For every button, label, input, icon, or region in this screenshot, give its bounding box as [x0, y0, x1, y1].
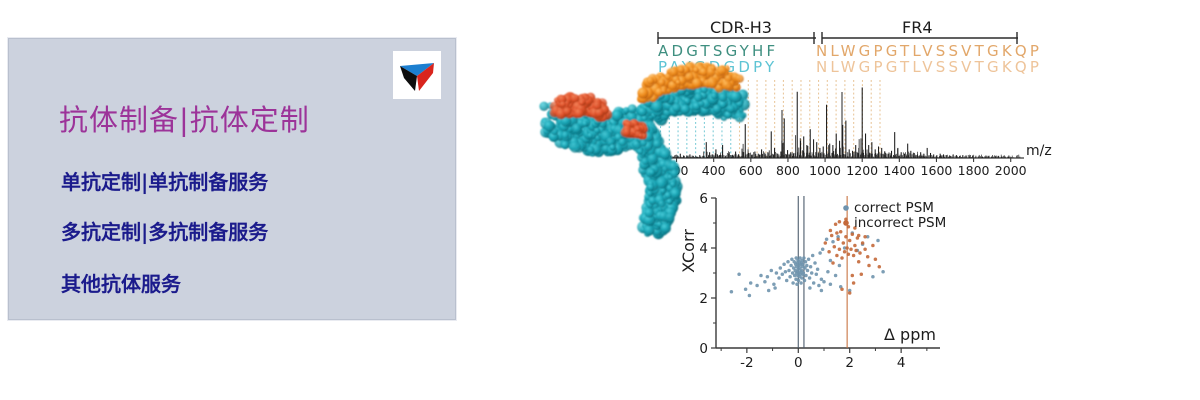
- scatter-point: [838, 248, 842, 252]
- scatter-point: [835, 254, 839, 258]
- scatter-point: [820, 289, 824, 293]
- scatter-point: [808, 286, 812, 290]
- scatter-point: [840, 256, 844, 260]
- screenshot-root: 抗体制备|抗体定制 单抗定制|单抗制备服务 多抗定制|多抗制备服务 其他抗体服务: [0, 0, 1200, 400]
- spectrum-xtick: 1800: [958, 163, 990, 178]
- scatter-point: [802, 256, 806, 260]
- sequence-row2-fr4: NLWGPGTLVSSVTGKQP: [816, 58, 1042, 76]
- scatter-point: [773, 286, 777, 290]
- scatter-ytick: 0: [699, 341, 708, 357]
- scatter-point: [838, 264, 842, 268]
- scatter-point: [779, 266, 783, 270]
- region-label-cdr-h3: CDR-H3: [710, 18, 772, 37]
- promo-item-monoclonal[interactable]: 单抗定制|单抗制备服务: [61, 169, 268, 195]
- scatter-point: [786, 260, 790, 264]
- scatter-point: [749, 281, 753, 285]
- scatter-point: [857, 234, 861, 238]
- scatter-point: [804, 274, 808, 278]
- scatter-point: [763, 280, 767, 284]
- spectrum-xtick: 1400: [883, 163, 915, 178]
- scatter-point: [770, 269, 774, 273]
- scatter-point: [852, 254, 856, 258]
- scatter-point: [851, 274, 855, 278]
- scatter-point: [809, 265, 813, 269]
- scatter-point: [785, 279, 789, 283]
- scatter-point: [755, 284, 759, 288]
- scatter-point: [826, 270, 830, 274]
- scatter-xtick: 0: [794, 355, 803, 371]
- scatter-point: [815, 273, 819, 277]
- scatter-point: [842, 241, 846, 245]
- scatter-ytick: 4: [699, 241, 708, 257]
- v-arrow-logo-icon: [393, 51, 441, 99]
- scatter-point: [854, 249, 858, 253]
- scatter-point: [827, 250, 831, 254]
- scatter-point: [822, 280, 826, 284]
- scatter-point: [831, 240, 835, 244]
- scatter-point: [881, 270, 885, 274]
- promo-item-other[interactable]: 其他抗体服务: [61, 271, 181, 297]
- scatter-point: [847, 253, 851, 256]
- scatter-point: [777, 276, 781, 280]
- scatter-point: [876, 239, 880, 243]
- scatter-point: [817, 284, 821, 288]
- region-label-fr4: FR4: [902, 18, 933, 37]
- scatter-point: [820, 278, 824, 282]
- scatter-point: [737, 273, 741, 277]
- scatter-point: [863, 235, 867, 239]
- scatter-point: [829, 229, 833, 233]
- scatter-point: [845, 246, 849, 250]
- scatter-point: [860, 273, 864, 277]
- scatter-point: [825, 238, 829, 242]
- scatter-point: [818, 251, 822, 255]
- spectrum-xtick: 2000: [995, 163, 1027, 178]
- legend-dot: [843, 220, 849, 226]
- figure-canvas: CDR-H3 FR4 ADGTSGYHF NLWGPGTLVSSVTGKQP P…: [520, 0, 1200, 400]
- spectrum-xtick: 800: [776, 163, 800, 178]
- scatter-point: [843, 250, 847, 254]
- scatter-point: [844, 235, 848, 239]
- scatter-point: [878, 265, 882, 269]
- scatter-point: [788, 275, 792, 279]
- scatter-point: [801, 263, 805, 267]
- scatter-point: [874, 258, 878, 262]
- scatter-point: [834, 223, 838, 227]
- scatter-point: [804, 260, 808, 264]
- scatter-point: [847, 225, 851, 229]
- promo-panel: 抗体制备|抗体定制 单抗定制|单抗制备服务 多抗定制|多抗制备服务 其他抗体服务: [8, 38, 456, 320]
- scatter-point: [766, 275, 770, 279]
- scatter-xaxis-label: Δ ppm: [884, 325, 936, 344]
- scatter-point: [759, 274, 763, 278]
- scatter-point: [839, 230, 843, 234]
- scatter-point: [813, 261, 817, 265]
- scatter-point: [784, 270, 788, 274]
- spectrum-xtick: 1000: [809, 163, 841, 178]
- v-arrow-logo: [393, 51, 441, 99]
- scatter-point: [852, 281, 856, 285]
- scatter-xtick: 4: [897, 355, 906, 371]
- scatter-point: [853, 244, 857, 248]
- scatter-point: [824, 241, 828, 245]
- scatter-point: [849, 248, 853, 252]
- scatter-point: [767, 289, 771, 293]
- scatter-point: [748, 294, 752, 298]
- scientific-figure: CDR-H3 FR4 ADGTSGYHF NLWGPGTLVSSVTGKQP P…: [520, 0, 1200, 400]
- scatter-point: [795, 283, 799, 287]
- scatter-point: [797, 279, 801, 283]
- legend-label: incorrect PSM: [854, 215, 946, 231]
- scatter-point: [848, 239, 852, 243]
- scatter-point: [838, 220, 842, 224]
- spectrum-xtick: 600: [739, 163, 763, 178]
- scatter-xtick: -2: [740, 355, 753, 371]
- scatter-point: [834, 274, 838, 278]
- scatter-point: [829, 283, 833, 287]
- promo-item-polyclonal[interactable]: 多抗定制|多抗制备服务: [61, 219, 268, 245]
- scatter-point: [799, 281, 803, 285]
- scatter-point: [863, 248, 867, 252]
- scatter-point: [802, 271, 806, 275]
- spectrum-xaxis-label: m/z: [1026, 143, 1052, 159]
- scatter-point: [811, 254, 815, 258]
- scatter-point: [836, 238, 840, 242]
- scatter-point: [808, 276, 812, 280]
- scatter-xtick: 2: [845, 355, 854, 371]
- scatter-point: [791, 281, 795, 285]
- scatter-point: [807, 258, 811, 262]
- scatter-yaxis-label: XCorr: [679, 229, 698, 273]
- legend-label: correct PSM: [854, 200, 934, 216]
- scatter-point: [730, 290, 734, 294]
- scatter-point: [810, 271, 814, 275]
- scatter-point: [787, 269, 791, 273]
- spectrum-xtick: 1200: [846, 163, 878, 178]
- scatter-point: [781, 273, 785, 277]
- scatter-point: [861, 241, 865, 245]
- scatter-point: [831, 261, 835, 265]
- scatter-point: [800, 276, 804, 280]
- scatter-point: [772, 283, 776, 287]
- scatter-point: [858, 251, 862, 255]
- scatter-point: [806, 269, 810, 273]
- scatter-point: [803, 279, 807, 283]
- scatter-point: [835, 231, 839, 235]
- scatter-point: [851, 233, 855, 237]
- scatter-point: [829, 259, 833, 263]
- scatter-point: [840, 288, 844, 292]
- spectrum-xtick: 400: [702, 163, 726, 178]
- scatter-point: [744, 288, 748, 292]
- legend-dot: [843, 205, 849, 211]
- page-title: 抗体制备|抗体定制: [59, 103, 310, 137]
- scatter-point: [789, 264, 793, 268]
- scatter-ytick: 2: [699, 291, 708, 307]
- scatter-point: [867, 264, 871, 268]
- scatter-point: [833, 245, 837, 249]
- scatter-point: [871, 275, 875, 279]
- scatter-point: [821, 248, 825, 252]
- scatter-point: [812, 281, 816, 285]
- scatter-ytick: 6: [699, 191, 708, 207]
- scatter-point: [857, 260, 861, 264]
- scatter-point: [866, 255, 870, 259]
- scatter-point: [805, 264, 809, 268]
- scatter-point: [775, 271, 779, 275]
- scatter-point: [816, 268, 820, 272]
- scatter-point: [830, 234, 834, 238]
- spectrum-xtick: 1600: [921, 163, 953, 178]
- scatter-point: [848, 291, 852, 295]
- scatter-point: [782, 263, 786, 267]
- scatter-point: [871, 244, 875, 248]
